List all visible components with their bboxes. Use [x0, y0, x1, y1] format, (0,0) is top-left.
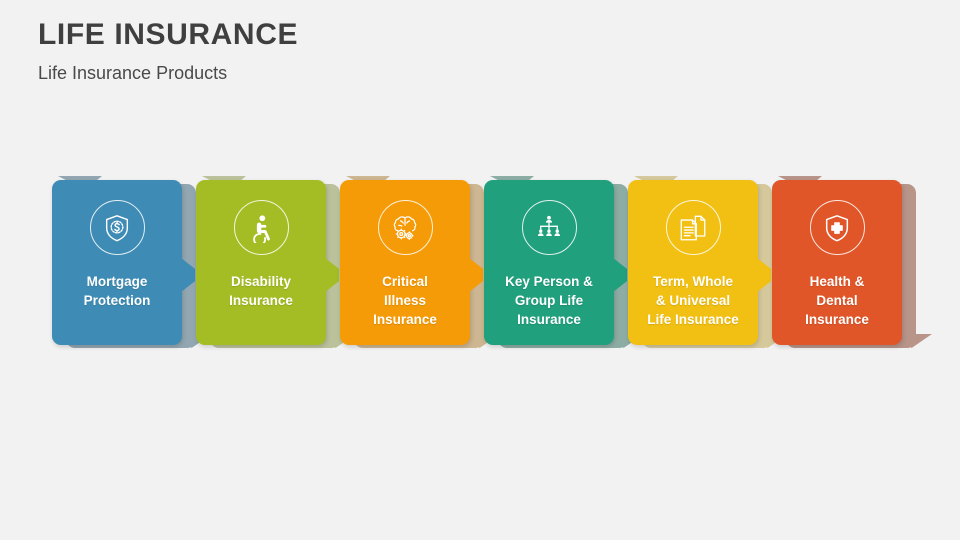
- product-card-5[interactable]: Term, Whole& UniversalLife Insurance: [628, 180, 758, 345]
- product-card-2[interactable]: DisabilityInsurance: [196, 180, 326, 345]
- card-icon-wrap: [772, 200, 902, 255]
- product-card-1[interactable]: MortgageProtection: [52, 180, 182, 345]
- wheelchair-accessibility-icon: [234, 200, 289, 255]
- card-label: CriticalIllnessInsurance: [344, 272, 466, 329]
- card-label: Health &DentalInsurance: [776, 272, 898, 329]
- card-label: DisabilityInsurance: [200, 272, 322, 310]
- card-label: Key Person &Group LifeInsurance: [488, 272, 610, 329]
- card-body[interactable]: MortgageProtection: [52, 180, 182, 345]
- card-label: Term, Whole& UniversalLife Insurance: [632, 272, 754, 329]
- card-body[interactable]: DisabilityInsurance: [196, 180, 326, 345]
- shield-dollar-icon: [90, 200, 145, 255]
- card-label: MortgageProtection: [56, 272, 178, 310]
- product-card-6[interactable]: Health &DentalInsurance: [772, 180, 902, 345]
- card-body[interactable]: Health &DentalInsurance: [772, 180, 902, 345]
- card-body[interactable]: Key Person &Group LifeInsurance: [484, 180, 614, 345]
- card-icon-wrap: [196, 200, 326, 255]
- card-body[interactable]: CriticalIllnessInsurance: [340, 180, 470, 345]
- product-card-3[interactable]: CriticalIllnessInsurance: [340, 180, 470, 345]
- card-icon-wrap: [340, 200, 470, 255]
- org-chart-people-icon: [522, 200, 577, 255]
- card-body[interactable]: Term, Whole& UniversalLife Insurance: [628, 180, 758, 345]
- card-icon-wrap: [52, 200, 182, 255]
- brain-gears-icon: [378, 200, 433, 255]
- card-icon-wrap: [484, 200, 614, 255]
- insurance-products-row: MortgageProtection DisabilityInsurance C…: [0, 0, 960, 540]
- documents-icon: [666, 200, 721, 255]
- shield-medical-cross-icon: [810, 200, 865, 255]
- card-icon-wrap: [628, 200, 758, 255]
- product-card-4[interactable]: Key Person &Group LifeInsurance: [484, 180, 614, 345]
